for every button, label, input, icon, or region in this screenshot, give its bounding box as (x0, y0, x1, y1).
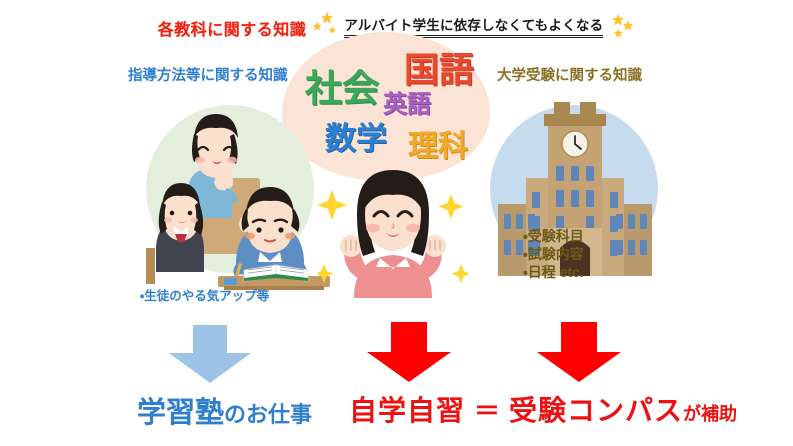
diagram-canvas: 各教科に関する知識 ★ ★ ★ アルバイト学生に依存しなくてもよくなる ★ ★ … (0, 0, 793, 446)
arrow-down-right-icon (529, 322, 629, 382)
star-cluster-right-icon: ★ ★ ★ (609, 13, 635, 43)
subject-label-suugaku: 数学 (325, 113, 387, 158)
star-cluster-left-icon: ★ ★ ★ (312, 13, 338, 43)
caption-university-exam: 大学受験に関する知識 (497, 64, 642, 85)
bottom-left-big-text: 学習塾 (137, 397, 224, 429)
left-bullet-text: ・生徒のやる気アップ等 (140, 288, 269, 304)
star-icon: ★ (312, 22, 322, 33)
bottom-mid-jigakujishuu: 自学自習 (349, 395, 465, 426)
bottom-mid-compass: 受験コンパス (509, 395, 683, 426)
equals-sign: ＝ (465, 396, 509, 426)
star-icon: ★ (328, 26, 336, 35)
star-icon: ★ (613, 29, 623, 40)
right-bullet-line-2: ・試験内容 (523, 246, 584, 264)
arrow-down-left-icon (158, 325, 262, 383)
tutoring-scene-illustration (140, 100, 330, 290)
arrow-down-center-icon (359, 322, 459, 382)
bottom-label-juku: 学習塾のお仕事 (137, 389, 312, 431)
right-bullet-list: ・受験科目 ・試験内容 ・日程 etc. (523, 228, 584, 282)
bottom-left-small-text: のお仕事 (224, 402, 312, 427)
subject-label-rika: 理科 (408, 121, 468, 165)
bottom-label-jigaku: 自学自習＝受験コンパスが補助 (349, 389, 737, 429)
right-bullet-line-3: ・日程 etc. (523, 264, 584, 282)
right-bullet-line-1: ・受験科目 (523, 228, 584, 246)
star-icon: ★ (320, 11, 333, 26)
subject-label-eigo: 英語 (383, 84, 431, 119)
subject-knowledge-label: 各教科に関する知識 (158, 16, 307, 40)
cheering-student-illustration (318, 168, 468, 298)
bottom-mid-small-text: が補助 (683, 404, 737, 424)
caption-teaching-method: 指導方法等に関する知識 (128, 64, 288, 85)
star-icon: ★ (622, 19, 634, 32)
